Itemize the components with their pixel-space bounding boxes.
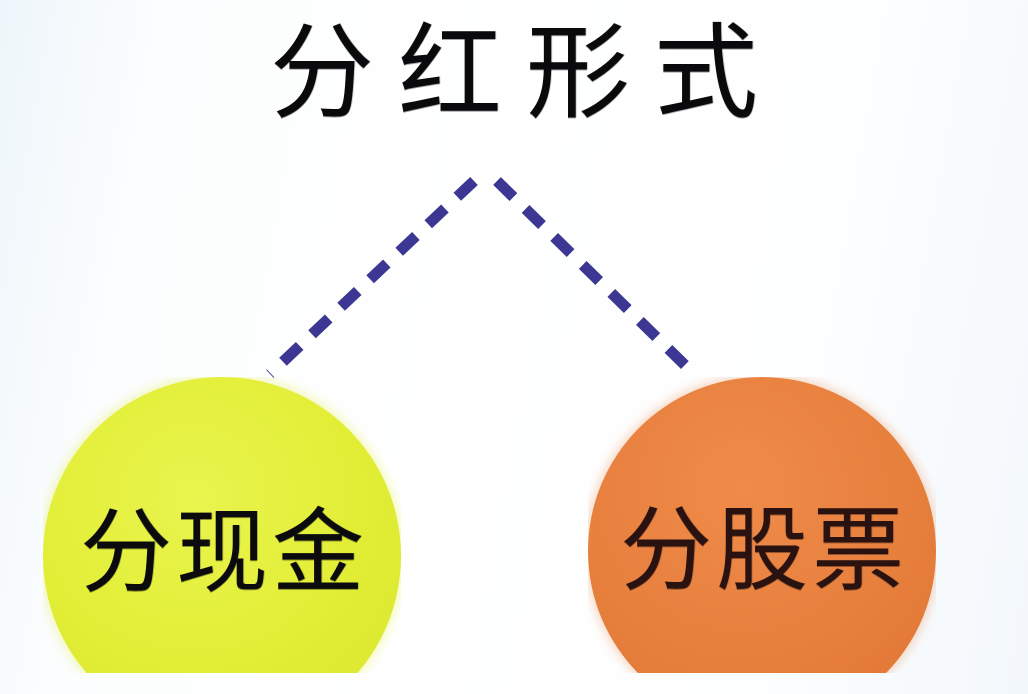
node-cash-label: 分现金	[43, 505, 401, 601]
dividend-forms-diagram: 分红形式 分现金 分股票	[0, 0, 1028, 694]
diagram-title: 分红形式	[0, 14, 1028, 132]
connector-right-branch	[497, 181, 692, 372]
node-cash[interactable]: 分现金	[43, 377, 401, 673]
node-stock[interactable]: 分股票	[588, 377, 936, 673]
node-stock-label: 分股票	[588, 503, 936, 599]
connector-left-branch	[270, 181, 474, 374]
